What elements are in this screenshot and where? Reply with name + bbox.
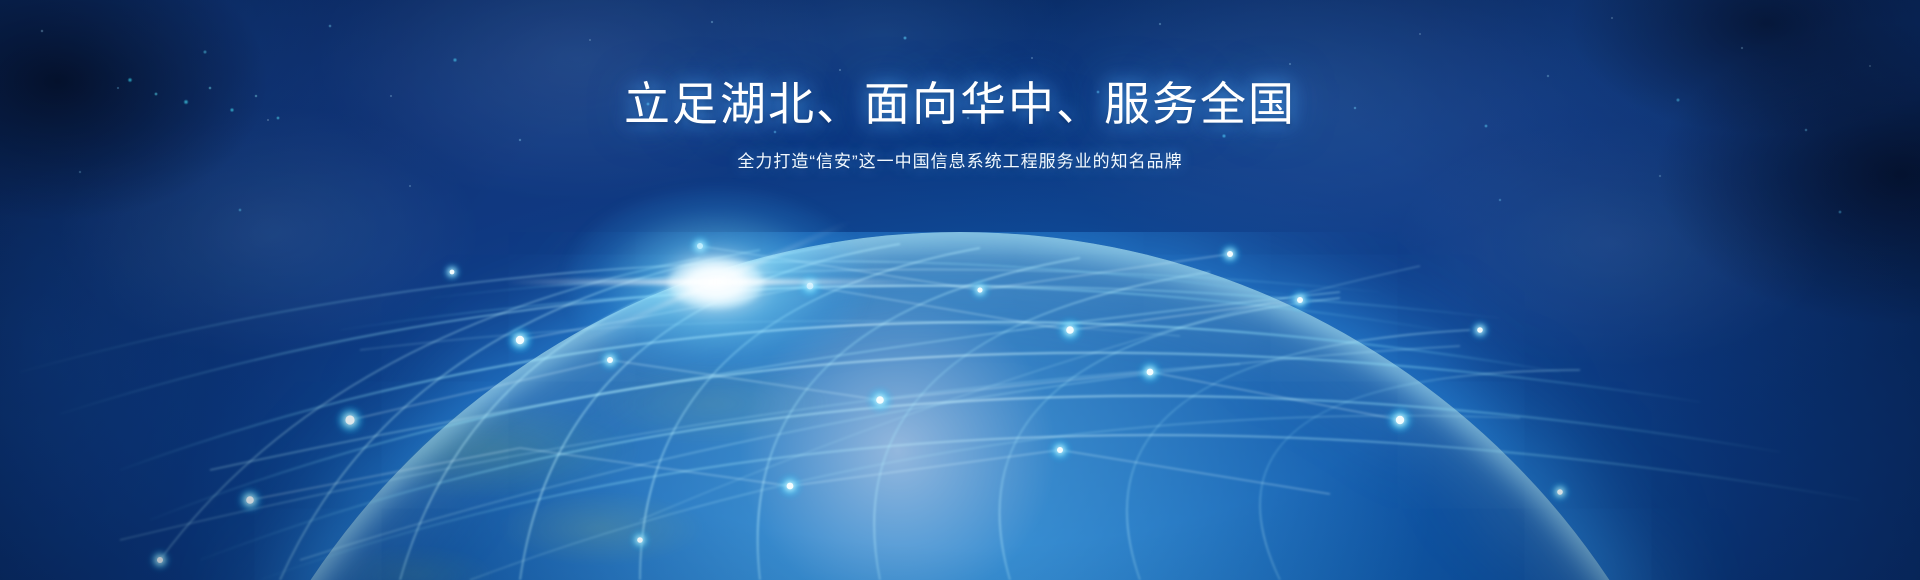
banner-headline: 立足湖北、面向华中、服务全国 — [0, 78, 1920, 131]
hero-banner: 立足湖北、面向华中、服务全国 全力打造“信安”这一中国信息系统工程服务业的知名品… — [0, 0, 1920, 580]
banner-text-block: 立足湖北、面向华中、服务全国 全力打造“信安”这一中国信息系统工程服务业的知名品… — [0, 78, 1920, 174]
banner-subheadline: 全力打造“信安”这一中国信息系统工程服务业的知名品牌 — [0, 149, 1920, 175]
